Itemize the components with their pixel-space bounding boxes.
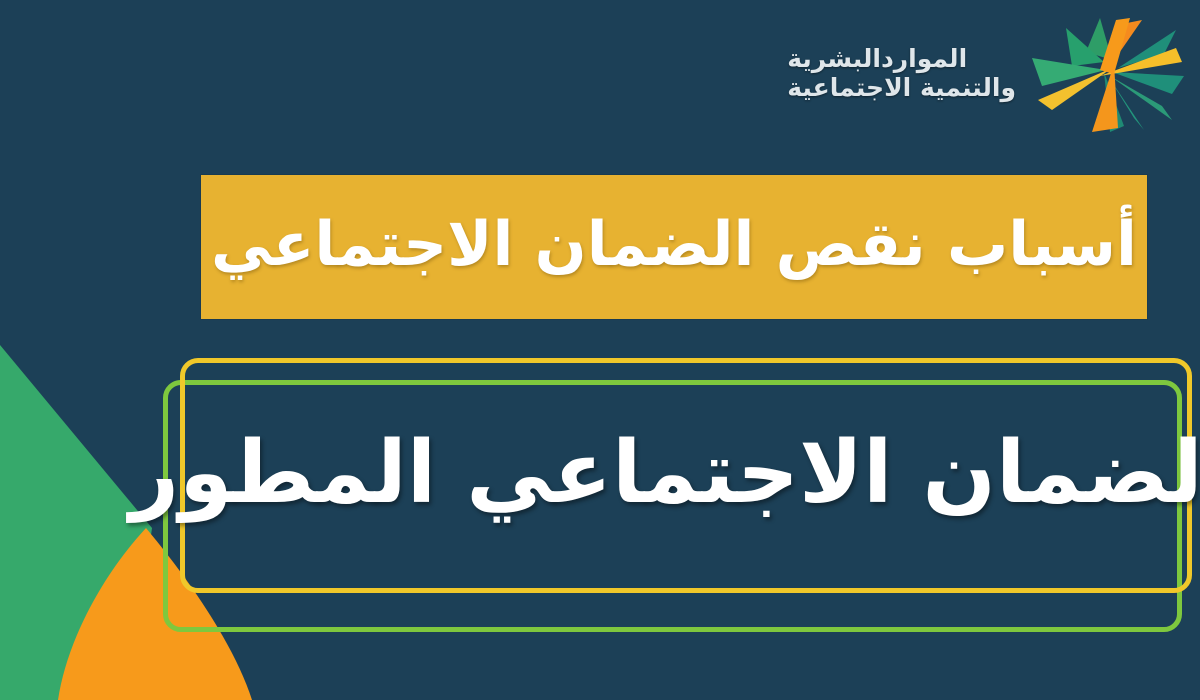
ministry-name-line-1: المواردالبشرية bbox=[787, 44, 967, 74]
headline-container: الضمان الاجتماعي المطور bbox=[180, 358, 1182, 598]
ministry-wordmark: المواردالبشرية والتنمية الاجتماعية bbox=[787, 44, 1016, 103]
banner-canvas: المواردالبشرية والتنمية الاجتماعية أسباب… bbox=[0, 0, 1200, 700]
main-headline: الضمان الاجتماعي المطور bbox=[130, 430, 1200, 526]
ministry-name-line-2: والتنمية الاجتماعية bbox=[787, 73, 1016, 103]
mhrsd-star-logo-icon bbox=[1026, 14, 1186, 132]
gold-banner: أسباب نقص الضمان الاجتماعي bbox=[201, 175, 1147, 319]
gold-banner-text: أسباب نقص الضمان الاجتماعي bbox=[211, 214, 1137, 281]
ministry-header: المواردالبشرية والتنمية الاجتماعية bbox=[787, 14, 1186, 132]
